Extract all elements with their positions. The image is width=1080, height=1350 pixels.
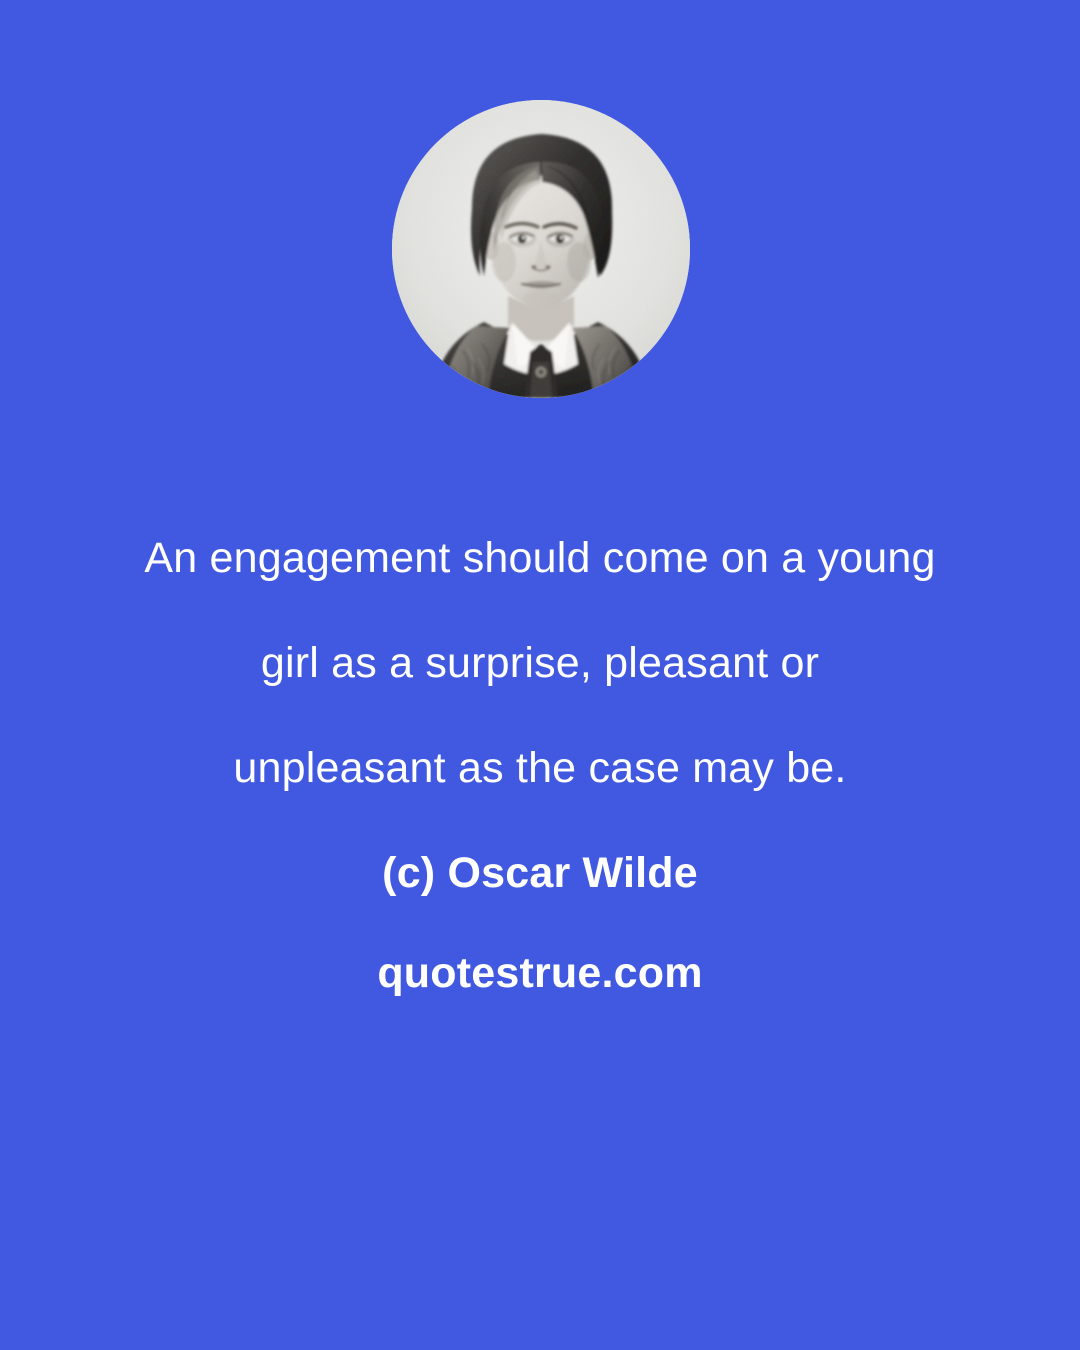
quote-line-1: An engagement should come on a young	[0, 506, 1080, 611]
oscar-wilde-portrait	[392, 100, 690, 398]
quote-attribution: (c) Oscar Wilde	[0, 823, 1080, 923]
quote-text-block: An engagement should come on a young gir…	[0, 506, 1080, 1023]
site-watermark: quotestrue.com	[0, 923, 1080, 1023]
quote-line-3: unpleasant as the case may be.	[0, 716, 1080, 821]
quote-card: An engagement should come on a young gir…	[0, 0, 1080, 1350]
portrait-photo-graphic	[392, 100, 690, 398]
quote-line-2: girl as a surprise, pleasant or	[0, 611, 1080, 716]
